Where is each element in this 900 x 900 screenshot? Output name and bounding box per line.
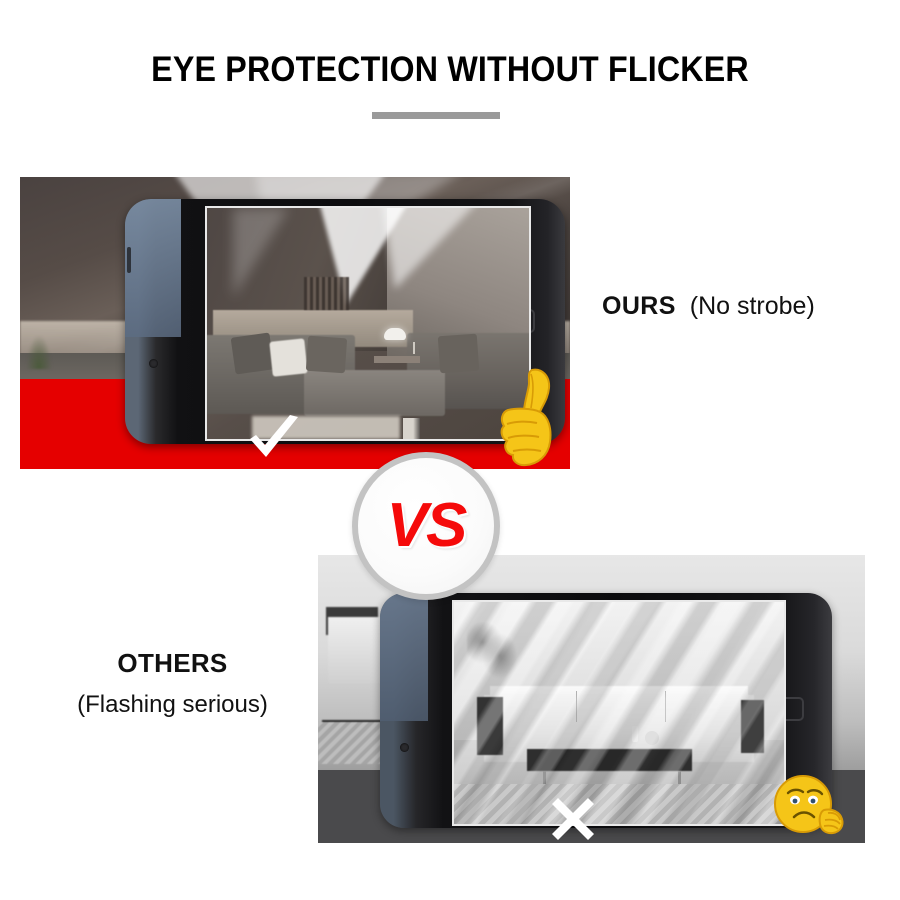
scene-coffee-table (527, 749, 692, 771)
ours-screen-scene (207, 208, 529, 439)
thumbs-up-icon (498, 366, 560, 470)
phone-camera-icon (149, 359, 158, 368)
scene-vase-tall (632, 726, 638, 742)
scene-light-beam-c (233, 208, 289, 298)
scene-chaise (304, 370, 446, 416)
phone-camera-icon (400, 743, 409, 752)
others-screen-scene (454, 602, 784, 824)
scene-floor-object (403, 418, 419, 439)
scene-floor-rug (454, 784, 784, 824)
title-underline-rule (372, 112, 500, 119)
ours-label-strong: OURS (602, 292, 676, 320)
scene-cushion-dark-1 (230, 333, 273, 375)
phone-glass-highlight (125, 199, 181, 337)
scene-side-table (374, 356, 419, 363)
scene-table-lamp-icon (384, 328, 406, 340)
vs-label: VS (387, 495, 466, 557)
scene-cushion-seam-1 (576, 691, 577, 722)
scene-sofa-arm-right (741, 700, 764, 753)
sad-face-thumbs-down-icon (772, 766, 848, 838)
scene-cushion-dark-3 (438, 334, 479, 374)
scene-cushion-dark-2 (306, 336, 347, 373)
scene-cushion-white (270, 338, 309, 376)
phone-side-button-icon (127, 247, 131, 273)
infographic-page: EYE PROTECTION WITHOUT FLICKER (0, 0, 900, 900)
others-label-light: (Flashing serious) (40, 691, 305, 719)
ours-label: OURS (No strobe) (602, 292, 815, 321)
others-smartphone-icon (380, 593, 832, 828)
vs-badge: VS (352, 452, 500, 600)
backdrop-plant (26, 335, 52, 369)
ours-phone-screen (205, 206, 531, 441)
others-phone-screen (452, 600, 786, 826)
others-label-strong: OTHERS (40, 648, 305, 679)
phone-glass-highlight (380, 593, 428, 721)
scene-wall-art (304, 277, 349, 309)
scene-light-beam-b (381, 208, 485, 289)
cross-icon (550, 796, 596, 842)
ours-label-light: (No strobe) (690, 292, 815, 320)
others-label: OTHERS (Flashing serious) (40, 648, 305, 719)
scene-sofa-arm-left (477, 697, 503, 755)
scene-lamp-stem (413, 342, 415, 354)
scene-cushion-seam-2 (665, 691, 666, 722)
scene-plant (467, 620, 520, 695)
page-title: EYE PROTECTION WITHOUT FLICKER (36, 50, 864, 90)
check-icon (246, 415, 302, 461)
